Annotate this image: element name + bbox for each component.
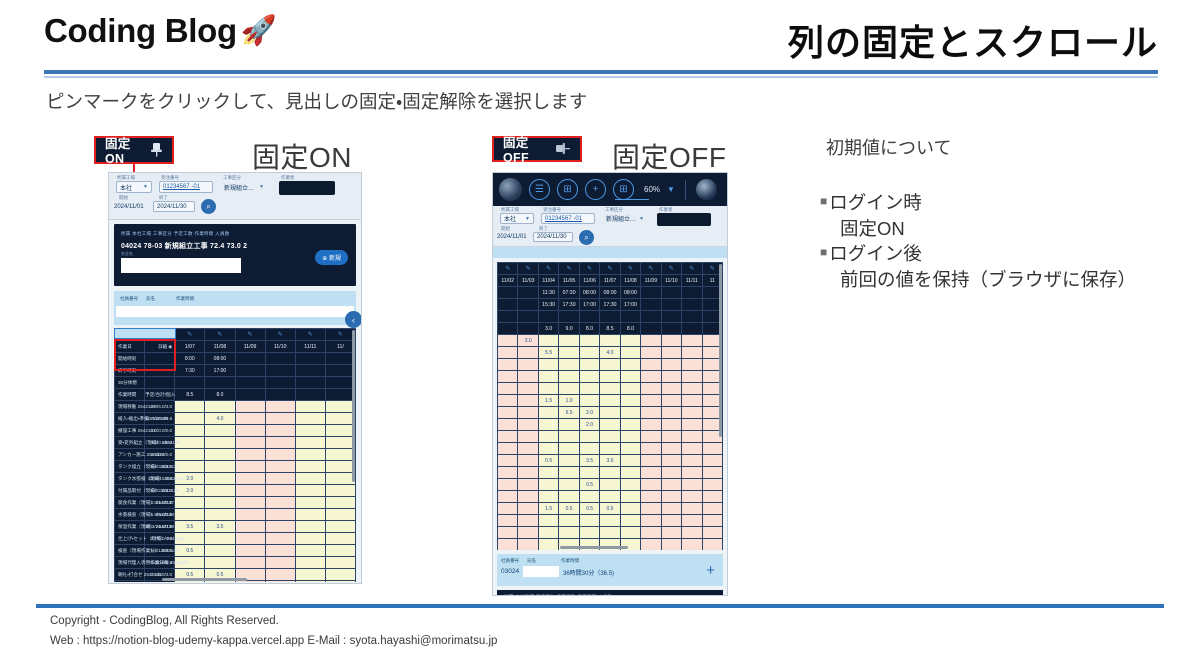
table-cell[interactable] [620, 467, 640, 479]
table-cell[interactable] [325, 389, 355, 401]
table-cell[interactable] [641, 407, 661, 419]
table-cell[interactable] [295, 473, 325, 485]
table-cell[interactable] [235, 557, 265, 569]
table-cell[interactable] [265, 353, 295, 365]
table-cell[interactable] [641, 359, 661, 371]
table-cell[interactable]: 11/08 [205, 341, 235, 353]
table-cell[interactable]: 1.0 [559, 395, 579, 407]
table-cell[interactable] [702, 479, 722, 491]
table-cell[interactable] [579, 395, 599, 407]
table-cell[interactable] [498, 335, 518, 347]
table-cell[interactable] [295, 509, 325, 521]
table-cell[interactable] [661, 527, 681, 539]
table-cell[interactable] [518, 467, 538, 479]
table-cell[interactable] [620, 347, 640, 359]
table-cell[interactable] [498, 311, 518, 323]
table-cell[interactable] [579, 443, 599, 455]
table-cell[interactable]: 3.5 [205, 521, 235, 533]
table-cell[interactable] [538, 371, 558, 383]
table-cell[interactable] [325, 581, 355, 583]
table-cell[interactable] [579, 311, 599, 323]
table-cell[interactable] [295, 353, 325, 365]
table-cell[interactable] [579, 371, 599, 383]
table-cell[interactable] [600, 371, 620, 383]
table-cell[interactable] [702, 527, 722, 539]
table-cell[interactable]: 17:30 [600, 299, 620, 311]
table-cell[interactable] [702, 503, 722, 515]
table-cell[interactable] [175, 377, 205, 389]
edit-pencil-icon[interactable]: ✎ [641, 263, 661, 275]
table-cell[interactable] [518, 455, 538, 467]
list-icon[interactable]: ☰ [529, 179, 550, 200]
table-cell[interactable] [641, 443, 661, 455]
table-cell[interactable] [661, 371, 681, 383]
table-cell[interactable]: 8.0 [205, 389, 235, 401]
name-field[interactable] [279, 181, 335, 195]
table-cell[interactable] [325, 425, 355, 437]
table-cell[interactable] [295, 461, 325, 473]
table-cell[interactable] [579, 335, 599, 347]
table-cell[interactable] [205, 401, 235, 413]
table-cell[interactable]: 7:30 [175, 365, 205, 377]
table-cell[interactable] [600, 395, 620, 407]
table-cell[interactable] [265, 461, 295, 473]
table-cell[interactable] [538, 527, 558, 539]
table-cell[interactable] [641, 323, 661, 335]
table-cell[interactable] [682, 383, 702, 395]
table-cell[interactable] [235, 413, 265, 425]
table-cell[interactable] [265, 557, 295, 569]
table-cell[interactable] [518, 443, 538, 455]
table-cell[interactable] [600, 359, 620, 371]
table-cell[interactable] [295, 569, 325, 581]
table-cell[interactable]: 1.5 [538, 503, 558, 515]
table-cell[interactable]: 8.0 [579, 323, 599, 335]
order-input[interactable]: 01234567 -01 [541, 213, 595, 224]
table-cell[interactable] [579, 431, 599, 443]
table-cell[interactable] [498, 443, 518, 455]
table-cell[interactable]: 2.0 [175, 485, 205, 497]
badge-fixed-on[interactable]: 固定 ON [94, 136, 174, 164]
table-cell[interactable] [325, 521, 355, 533]
table-cell[interactable] [702, 491, 722, 503]
table-cell[interactable] [498, 515, 518, 527]
table-cell[interactable] [265, 425, 295, 437]
table-cell[interactable] [325, 485, 355, 497]
edit-pencil-icon[interactable]: ✎ [538, 263, 558, 275]
table-cell[interactable] [538, 443, 558, 455]
table-cell[interactable]: 1.5 [538, 395, 558, 407]
table-cell[interactable] [175, 401, 205, 413]
table-cell[interactable] [518, 431, 538, 443]
table-cell[interactable] [498, 395, 518, 407]
table-cell[interactable]: 17:00 [579, 299, 599, 311]
table-cell[interactable] [265, 521, 295, 533]
table-cell[interactable] [559, 359, 579, 371]
zoom-level[interactable]: 60% [644, 185, 660, 194]
table-cell[interactable] [265, 509, 295, 521]
table-cell[interactable] [235, 497, 265, 509]
table-cell[interactable] [600, 443, 620, 455]
table-cell[interactable] [205, 485, 235, 497]
table-cell[interactable] [600, 527, 620, 539]
table-cell[interactable] [661, 383, 681, 395]
table-cell[interactable] [325, 437, 355, 449]
table-cell[interactable]: 17:00 [205, 365, 235, 377]
chevron-down-icon[interactable]: ▼ [667, 185, 675, 194]
table-cell[interactable] [498, 539, 518, 551]
table-cell[interactable] [205, 461, 235, 473]
table-cell[interactable] [265, 569, 295, 581]
table-cell[interactable] [175, 425, 205, 437]
table-cell[interactable] [235, 401, 265, 413]
table-cell[interactable] [661, 395, 681, 407]
end-date-input[interactable]: 2024/11/30 [153, 201, 195, 212]
table-cell[interactable] [518, 311, 538, 323]
table-cell[interactable]: 3.0 [538, 323, 558, 335]
table-cell[interactable] [641, 371, 661, 383]
table-cell[interactable] [559, 527, 579, 539]
table-cell[interactable]: 2.0 [579, 407, 599, 419]
table-cell[interactable] [641, 455, 661, 467]
table-cell[interactable]: 17:00 [620, 299, 640, 311]
table-cell[interactable]: 0.5 [600, 503, 620, 515]
table-cell[interactable] [682, 287, 702, 299]
table-cell[interactable]: 08:00 [620, 287, 640, 299]
table-cell[interactable] [559, 467, 579, 479]
table-cell[interactable]: 11/ [325, 341, 355, 353]
table-cell[interactable] [559, 419, 579, 431]
table-cell[interactable] [518, 407, 538, 419]
table-cell[interactable] [295, 413, 325, 425]
table-cell[interactable] [641, 491, 661, 503]
table-cell[interactable]: 4.0 [600, 347, 620, 359]
table-cell[interactable] [682, 359, 702, 371]
table-cell[interactable] [235, 485, 265, 497]
table-cell[interactable] [175, 449, 205, 461]
table-cell[interactable] [295, 533, 325, 545]
table-cell[interactable] [620, 419, 640, 431]
table-cell[interactable] [682, 455, 702, 467]
table-cell[interactable] [265, 533, 295, 545]
table-cell[interactable] [682, 419, 702, 431]
table-cell[interactable] [661, 335, 681, 347]
table-cell[interactable] [620, 311, 640, 323]
table-cell[interactable] [205, 377, 235, 389]
table-cell[interactable] [661, 539, 681, 551]
table-cell[interactable] [682, 527, 702, 539]
table-cell[interactable] [600, 467, 620, 479]
edit-pencil-icon[interactable]: ✎ [265, 329, 295, 341]
order-card-input[interactable] [121, 258, 241, 273]
table-cell[interactable] [641, 431, 661, 443]
table-cell[interactable] [295, 449, 325, 461]
table-cell[interactable]: 08:00 [600, 287, 620, 299]
plus-icon[interactable]: + [706, 562, 715, 579]
table-cell[interactable] [235, 545, 265, 557]
table-cell[interactable] [205, 437, 235, 449]
table-cell[interactable]: 8.5 [600, 323, 620, 335]
table-cell[interactable] [265, 401, 295, 413]
table-cell[interactable]: 3.5 [600, 455, 620, 467]
table-cell[interactable]: 4.0 [205, 413, 235, 425]
table-cell[interactable] [620, 335, 640, 347]
table-cell[interactable] [325, 533, 355, 545]
table-cell[interactable] [498, 479, 518, 491]
table-cell[interactable] [518, 515, 538, 527]
pencil-row[interactable]: ✎✎✎✎✎✎✎✎✎✎✎ [498, 263, 723, 275]
edit-pencil-icon[interactable]: ✎ [235, 329, 265, 341]
table-cell[interactable] [559, 311, 579, 323]
edit-pencil-icon[interactable]: ✎ [559, 263, 579, 275]
work-select[interactable]: 新規組立… ▼ [603, 213, 647, 224]
table-cell[interactable] [641, 347, 661, 359]
table-cell[interactable] [661, 299, 681, 311]
table-cell[interactable] [538, 515, 558, 527]
table-cell[interactable] [559, 443, 579, 455]
table-cell[interactable] [205, 449, 235, 461]
table-cell[interactable] [682, 443, 702, 455]
table-cell[interactable] [205, 509, 235, 521]
table-cell[interactable] [235, 533, 265, 545]
table-cell[interactable] [682, 347, 702, 359]
table-cell[interactable] [682, 407, 702, 419]
table-cell[interactable]: 2.0 [579, 419, 599, 431]
table-cell[interactable] [518, 503, 538, 515]
table-cell[interactable] [325, 413, 355, 425]
table-cell[interactable] [661, 359, 681, 371]
table-cell[interactable] [538, 359, 558, 371]
search-icon[interactable]: ⌕ [201, 199, 216, 214]
table-cell[interactable] [295, 437, 325, 449]
table-cell[interactable] [579, 467, 599, 479]
table-cell[interactable] [265, 389, 295, 401]
table-cell[interactable] [620, 395, 640, 407]
table-cell[interactable] [325, 377, 355, 389]
table-cell[interactable] [265, 485, 295, 497]
table-cell[interactable] [325, 461, 355, 473]
table-cell[interactable] [235, 461, 265, 473]
table-cell[interactable] [295, 485, 325, 497]
table-cell[interactable] [682, 371, 702, 383]
table-cell[interactable] [579, 383, 599, 395]
table-cell[interactable] [518, 479, 538, 491]
table-cell[interactable] [661, 407, 681, 419]
table-cell[interactable] [661, 287, 681, 299]
table-cell[interactable] [538, 419, 558, 431]
table-cell[interactable] [518, 287, 538, 299]
table-cell[interactable] [295, 521, 325, 533]
edit-pencil-icon[interactable]: ✎ [205, 329, 235, 341]
table-cell[interactable] [265, 377, 295, 389]
table-cell[interactable] [682, 467, 702, 479]
table-cell[interactable] [661, 323, 681, 335]
table-cell[interactable] [600, 335, 620, 347]
table-cell[interactable] [682, 503, 702, 515]
plus-icon[interactable]: + [585, 179, 606, 200]
table-cell[interactable] [518, 491, 538, 503]
table-cell[interactable] [702, 515, 722, 527]
table-cell[interactable] [661, 491, 681, 503]
table-cell[interactable] [295, 401, 325, 413]
table-cell[interactable] [641, 467, 661, 479]
table-cell[interactable] [295, 425, 325, 437]
table-cell[interactable] [620, 371, 640, 383]
add-page-icon[interactable]: ⊞ [613, 179, 634, 200]
table-cell[interactable] [295, 581, 325, 583]
table-cell[interactable] [538, 479, 558, 491]
order-input[interactable]: 01234567 -01 [159, 181, 213, 193]
table-cell[interactable] [600, 383, 620, 395]
table-cell[interactable] [661, 479, 681, 491]
table-cell[interactable] [559, 383, 579, 395]
table-cell[interactable] [538, 539, 558, 551]
table-cell[interactable] [295, 557, 325, 569]
table-cell[interactable] [175, 413, 205, 425]
table-cell[interactable] [620, 503, 640, 515]
table-cell[interactable] [682, 539, 702, 551]
table-cell[interactable]: 11/09 [235, 341, 265, 353]
table-cell[interactable] [325, 557, 355, 569]
table-cell[interactable] [295, 545, 325, 557]
edit-pencil-icon[interactable]: ✎ [498, 263, 518, 275]
table-cell[interactable] [498, 407, 518, 419]
band-input-strip[interactable] [116, 306, 354, 317]
table-cell[interactable] [641, 395, 661, 407]
table-cell[interactable] [538, 467, 558, 479]
table-cell[interactable]: 0.5 [559, 503, 579, 515]
company-select[interactable]: 本社 ▼ [500, 213, 534, 224]
table-cell[interactable] [325, 353, 355, 365]
table-cell[interactable] [682, 311, 702, 323]
table-cell[interactable] [620, 455, 640, 467]
table-cell[interactable] [620, 383, 640, 395]
table-cell[interactable] [205, 557, 235, 569]
table-cell[interactable] [205, 545, 235, 557]
table-cell[interactable] [538, 311, 558, 323]
table-cell[interactable] [682, 491, 702, 503]
table-cell[interactable] [661, 503, 681, 515]
table-cell[interactable] [498, 419, 518, 431]
table-cell[interactable] [620, 407, 640, 419]
edit-pencil-icon[interactable]: ✎ [579, 263, 599, 275]
table-cell[interactable] [641, 287, 661, 299]
table-cell[interactable] [559, 455, 579, 467]
edit-pencil-icon[interactable]: ✎ [661, 263, 681, 275]
table-cell[interactable] [661, 515, 681, 527]
table-cell[interactable] [235, 449, 265, 461]
table-cell[interactable] [641, 335, 661, 347]
table-cell[interactable] [175, 509, 205, 521]
table-cell[interactable] [498, 467, 518, 479]
table-cell[interactable] [295, 497, 325, 509]
edit-pencil-icon[interactable]: ✎ [518, 263, 538, 275]
table-cell[interactable] [682, 323, 702, 335]
table-cell[interactable] [175, 497, 205, 509]
table-cell[interactable] [620, 515, 640, 527]
work-select[interactable]: 新規組立… ▼ [221, 181, 267, 193]
table-cell[interactable] [600, 431, 620, 443]
table-cell[interactable] [682, 335, 702, 347]
new-button[interactable]: ⊕ 新規 [315, 250, 348, 265]
table-cell[interactable] [498, 455, 518, 467]
table-cell[interactable] [559, 371, 579, 383]
table-cell[interactable]: 0.5 [538, 455, 558, 467]
table-cell[interactable] [175, 461, 205, 473]
edit-pencil-icon[interactable]: ✎ [175, 329, 205, 341]
table-cell[interactable] [265, 437, 295, 449]
table-cell[interactable]: 08:00 [579, 287, 599, 299]
name-field[interactable] [657, 213, 711, 226]
table-cell[interactable] [325, 569, 355, 581]
table-cell[interactable] [661, 347, 681, 359]
table-cell[interactable] [498, 359, 518, 371]
table-cell[interactable] [579, 359, 599, 371]
table-cell[interactable] [235, 425, 265, 437]
table-cell[interactable] [498, 323, 518, 335]
table-cell[interactable] [205, 425, 235, 437]
start-date-input[interactable]: 2024/11/01 [494, 232, 532, 242]
table-cell[interactable] [498, 371, 518, 383]
table-cell[interactable] [498, 491, 518, 503]
table-cell[interactable] [295, 389, 325, 401]
table-cell[interactable] [559, 347, 579, 359]
table-cell[interactable] [620, 359, 640, 371]
table-cell[interactable] [235, 353, 265, 365]
table-cell[interactable]: 1/07 [175, 341, 205, 353]
table-cell[interactable] [559, 515, 579, 527]
table-cell[interactable]: 0.5 [175, 545, 205, 557]
table-cell[interactable] [538, 407, 558, 419]
table-cell[interactable] [682, 479, 702, 491]
table-cell[interactable] [620, 431, 640, 443]
table-cell[interactable] [538, 431, 558, 443]
table-cell[interactable] [325, 473, 355, 485]
table-cell[interactable] [682, 431, 702, 443]
grid-icon[interactable]: ⊞ [557, 179, 578, 200]
table-cell[interactable]: 5.5 [538, 347, 558, 359]
table-cell[interactable] [600, 479, 620, 491]
table-cell[interactable] [579, 491, 599, 503]
table-cell[interactable] [265, 581, 295, 583]
table-cell[interactable]: 0.5 [579, 479, 599, 491]
table-cell[interactable] [518, 299, 538, 311]
table-cell[interactable] [518, 323, 538, 335]
table-cell[interactable] [661, 419, 681, 431]
vertical-scrollbar[interactable] [719, 264, 722, 437]
table-cell[interactable]: 8.0 [620, 323, 640, 335]
table-cell[interactable] [265, 365, 295, 377]
table-cell[interactable]: 15:30 [538, 299, 558, 311]
table-cell[interactable]: 8:00 [175, 353, 205, 365]
table-cell[interactable] [579, 347, 599, 359]
table-cell[interactable] [518, 359, 538, 371]
table-cell[interactable] [518, 527, 538, 539]
chevron-left-icon[interactable]: ‹ [345, 311, 362, 328]
table-cell[interactable] [205, 533, 235, 545]
table-cell[interactable] [559, 335, 579, 347]
table-cell[interactable] [600, 419, 620, 431]
table-cell[interactable] [235, 377, 265, 389]
table-cell[interactable] [702, 455, 722, 467]
table-cell[interactable] [205, 497, 235, 509]
table-cell[interactable] [661, 311, 681, 323]
table-cell[interactable] [498, 347, 518, 359]
table-cell[interactable] [235, 365, 265, 377]
table-cell[interactable] [641, 515, 661, 527]
table-cell[interactable]: 17:30 [559, 299, 579, 311]
table-cell[interactable] [325, 497, 355, 509]
